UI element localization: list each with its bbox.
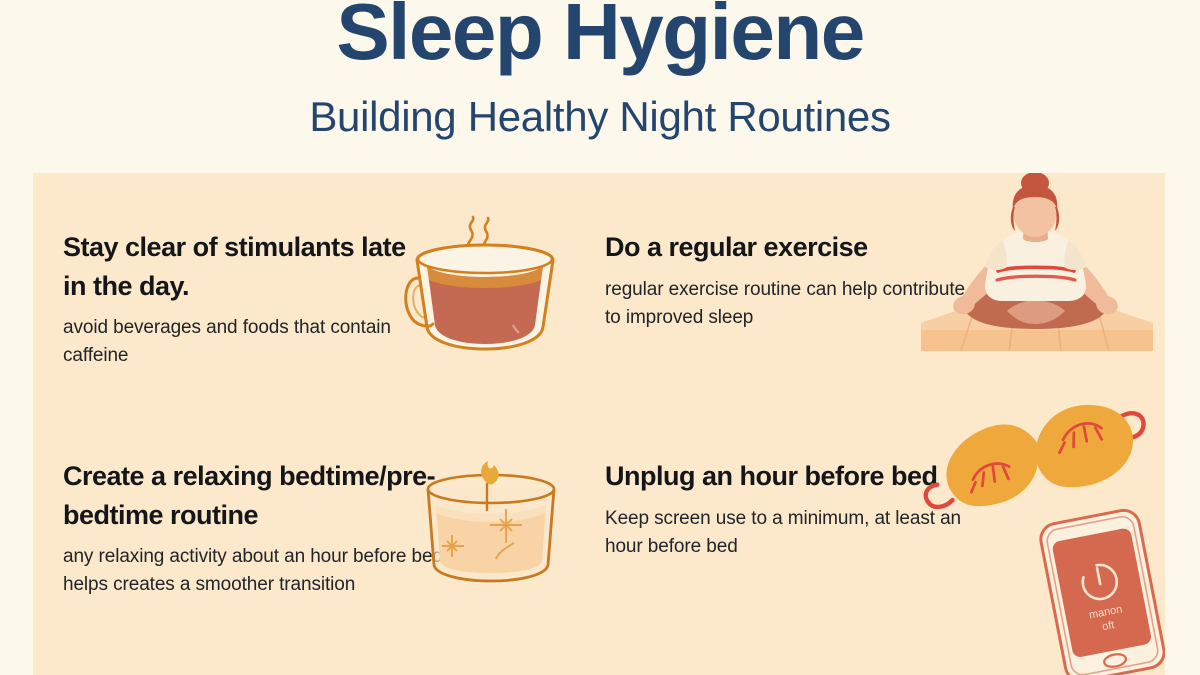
tip-heading: Stay clear of stimulants late in the day… bbox=[63, 228, 423, 305]
tip-card-bedtime-routine: Create a relaxing bedtime/pre-bedtime ro… bbox=[63, 457, 453, 599]
infographic-header: Sleep Hygiene Building Healthy Night Rou… bbox=[0, 0, 1200, 173]
tip-card-stimulants: Stay clear of stimulants late in the day… bbox=[63, 228, 423, 370]
page-title: Sleep Hygiene bbox=[0, 0, 1200, 72]
tip-heading: Create a relaxing bedtime/pre-bedtime ro… bbox=[63, 457, 453, 534]
coffee-cup-icon bbox=[405, 215, 573, 360]
candle-icon bbox=[418, 461, 568, 586]
meditating-person-icon bbox=[903, 183, 1165, 353]
tips-panel: Stay clear of stimulants late in the day… bbox=[33, 173, 1165, 675]
tip-body: any relaxing activity about an hour befo… bbox=[63, 534, 453, 599]
page-subtitle: Building Healthy Night Routines bbox=[0, 96, 1200, 138]
tip-body: avoid beverages and foods that contain c… bbox=[63, 305, 423, 370]
infographic-root: Sleep Hygiene Building Healthy Night Rou… bbox=[0, 0, 1200, 675]
phone-screen-label-line2: oft bbox=[1101, 619, 1115, 633]
phone-icon: manon oft bbox=[1018, 505, 1165, 675]
